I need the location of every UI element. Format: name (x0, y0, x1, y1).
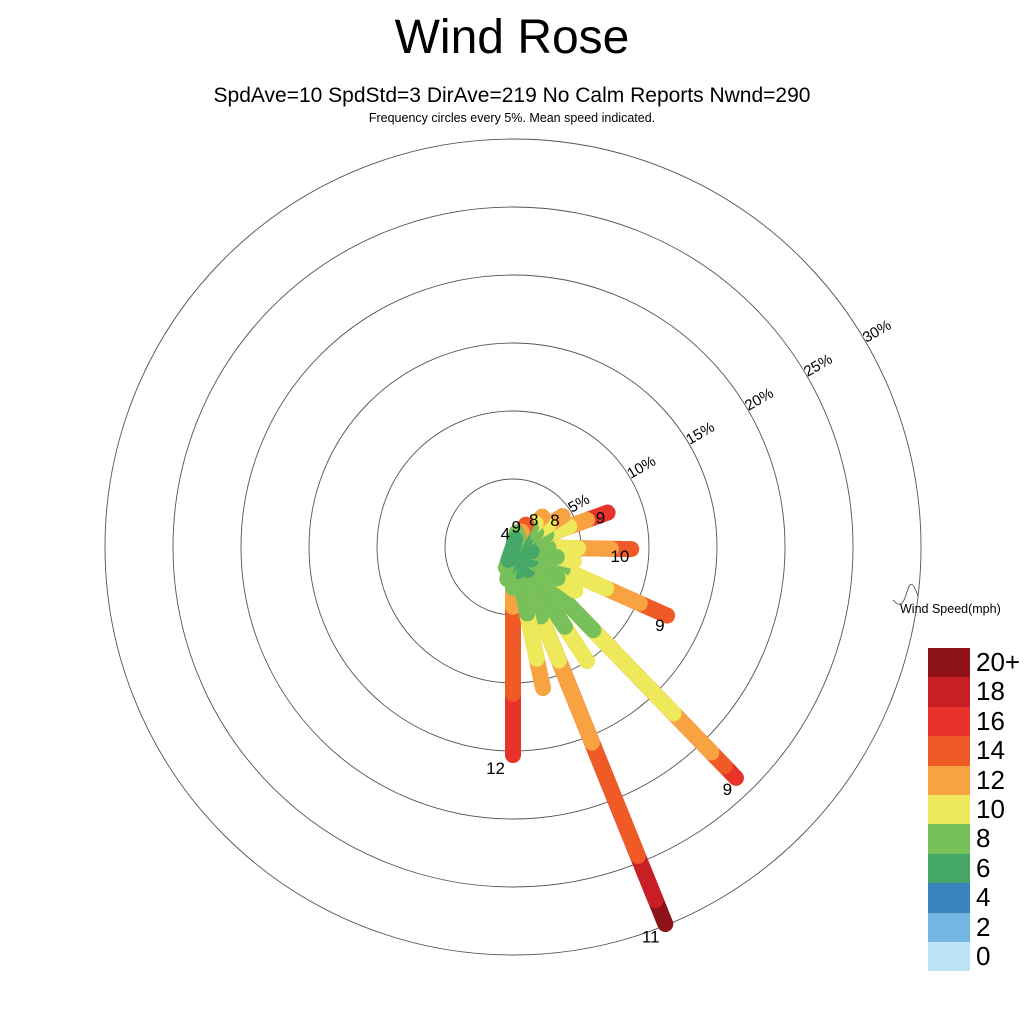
legend-row[interactable]: 4 (928, 883, 970, 912)
legend-color-swatch (928, 677, 970, 706)
legend-row[interactable]: 0 (928, 942, 970, 971)
legend-row[interactable]: 14 (928, 736, 970, 765)
legend-title: Wind Speed(mph) (900, 602, 1001, 616)
legend-label: 4 (976, 882, 990, 912)
legend-label: 6 (976, 853, 990, 883)
petal-mean-speed-label: 9 (723, 780, 732, 799)
legend-label: 12 (976, 765, 1005, 795)
legend-color-swatch (928, 824, 970, 853)
wind-petals (506, 513, 736, 924)
ring-tick-label: 25% (801, 351, 836, 381)
legend-row[interactable]: 6 (928, 854, 970, 883)
legend-row[interactable]: 8 (928, 824, 970, 853)
legend-label: 0 (976, 941, 990, 971)
petal-mean-speed-label: 11 (642, 928, 660, 947)
legend-color-swatch (928, 913, 970, 942)
legend-color-swatch (928, 854, 970, 883)
legend-color-swatch (928, 883, 970, 912)
ring-tick-label: 30% (860, 317, 895, 347)
petal-mean-speed-label: 9 (655, 616, 664, 635)
legend-row[interactable]: 16 (928, 707, 970, 736)
legend-row[interactable]: 18 (928, 677, 970, 706)
legend-label: 10 (976, 794, 1005, 824)
legend-row[interactable]: 20+ (928, 648, 970, 677)
petal-segment (513, 539, 515, 547)
wind-speed-legend: 20+181614121086420 (928, 648, 970, 971)
legend-label: 16 (976, 706, 1005, 736)
legend-label: 20+ (976, 647, 1020, 677)
petal-mean-speed-label: 8 (550, 511, 559, 530)
legend-row[interactable]: 2 (928, 913, 970, 942)
petal-mean-speed-label: 4 (501, 525, 510, 544)
legend-label: 8 (976, 823, 990, 853)
legend-color-swatch (928, 707, 970, 736)
petal-mean-speed-label: 9 (596, 509, 605, 528)
petal-mean-speed-label: 9 (511, 517, 520, 536)
legend-row[interactable]: 10 (928, 795, 970, 824)
legend-color-swatch (928, 648, 970, 677)
petal-mean-speed-label: 10 (610, 547, 629, 566)
petal-mean-speed-label: 8 (529, 510, 538, 529)
legend-label: 18 (976, 676, 1005, 706)
legend-color-swatch (928, 766, 970, 795)
legend-color-swatch (928, 942, 970, 971)
legend-row[interactable]: 12 (928, 766, 970, 795)
ring-tick-label: 10% (624, 453, 659, 483)
ring-tick-label: 20% (742, 385, 777, 415)
ring-tick-label: 15% (683, 419, 718, 449)
legend-color-swatch (928, 795, 970, 824)
legend-label: 14 (976, 735, 1005, 765)
legend-color-swatch (928, 736, 970, 765)
ring-tick-labels: 5%10%15%20%25%30% (565, 317, 894, 517)
legend-label: 2 (976, 912, 990, 942)
wind-rose-page: Wind Rose SpdAve=10 SpdStd=3 DirAve=219 … (0, 0, 1024, 1024)
wind-rose-plot: 5%10%15%20%25%30% 1211991098894 (0, 0, 1024, 1024)
petal-mean-speed-label: 12 (486, 759, 505, 778)
